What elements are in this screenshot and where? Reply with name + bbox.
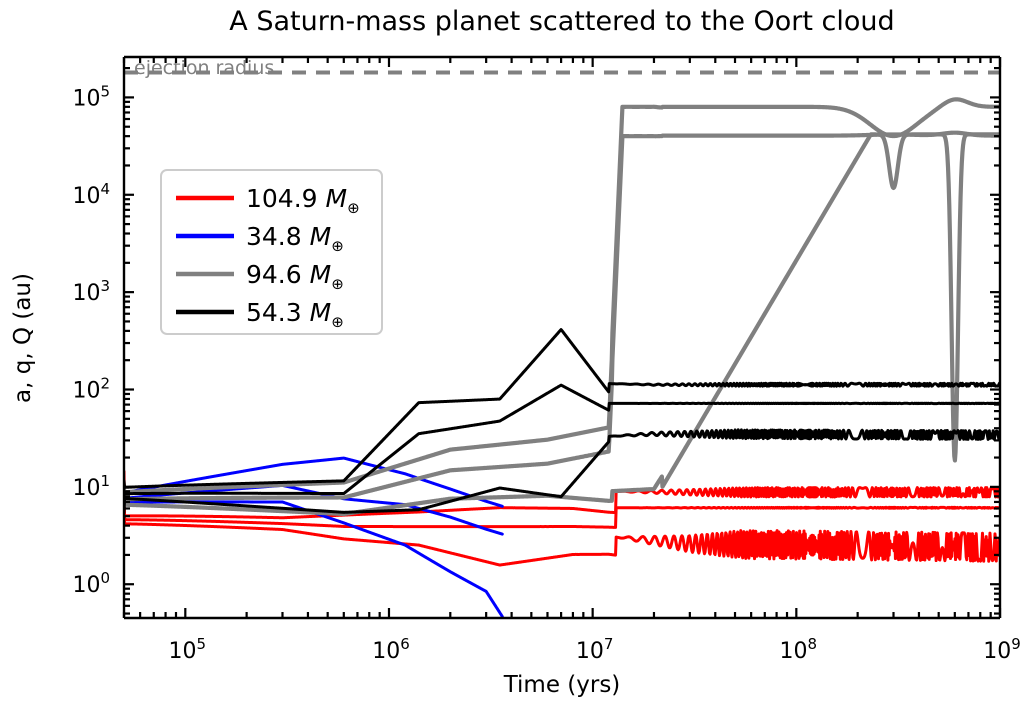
legend-label-black: 54.3 M⊕ <box>246 298 344 331</box>
legend-label-blue: 34.8 M⊕ <box>246 222 344 255</box>
figure-container: A Saturn-mass planet scattered to the Oo… <box>0 0 1024 717</box>
legend-label-gray: 94.6 M⊕ <box>246 260 344 293</box>
legend-label-red: 104.9 M⊕ <box>246 184 360 217</box>
chart-canvas: A Saturn-mass planet scattered to the Oo… <box>0 0 1024 717</box>
y-axis-label: a, q, Q (au) <box>10 273 36 403</box>
ejection-radius-label: ejection radius <box>134 57 274 79</box>
x-axis-label: Time (yrs) <box>503 672 621 698</box>
legend[interactable]: 104.9 M⊕34.8 M⊕94.6 M⊕54.3 M⊕ <box>161 170 382 334</box>
chart-title: A Saturn-mass planet scattered to the Oo… <box>229 6 894 37</box>
